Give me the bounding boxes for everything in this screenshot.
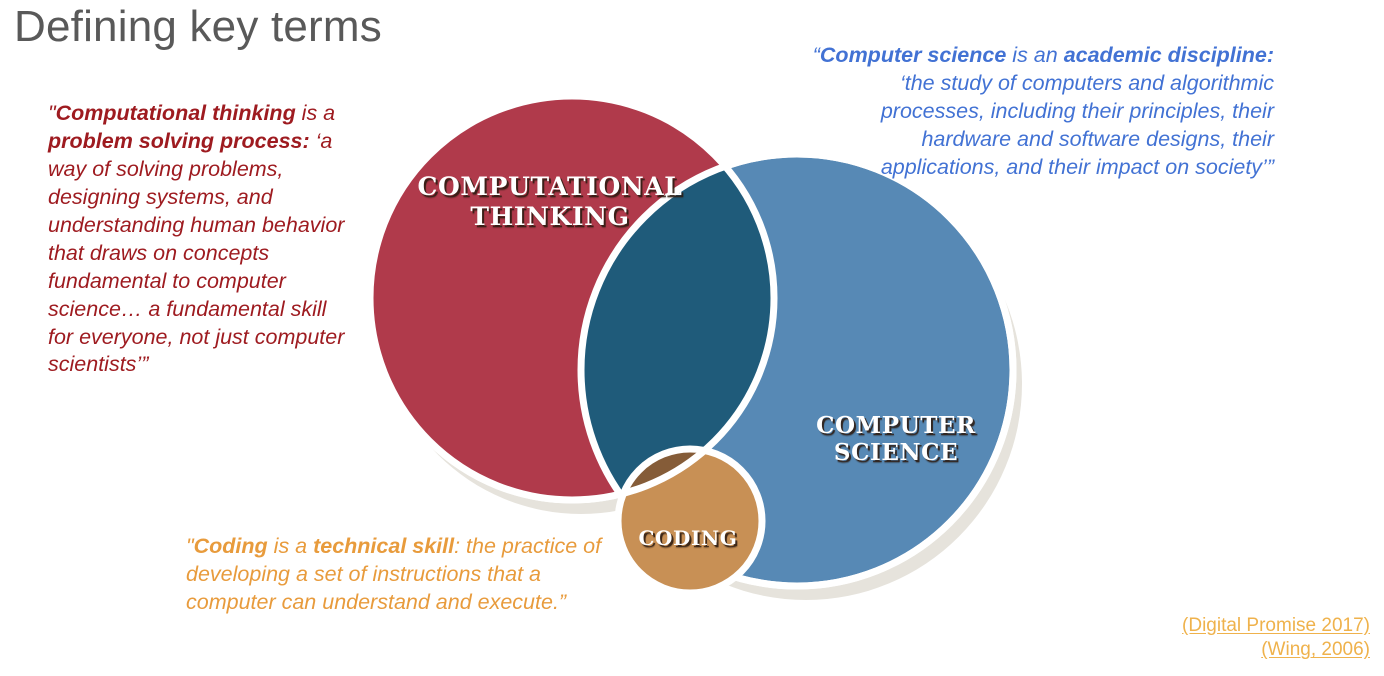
quote-ct-mid: is a — [296, 101, 335, 125]
quote-coding-open: " — [186, 534, 194, 558]
quote-cs-body: ‘the study of computers and algorithmic … — [881, 71, 1274, 179]
citations: (Digital Promise 2017) (Wing, 2006) — [1050, 614, 1370, 663]
citation-link-digital-promise[interactable]: (Digital Promise 2017) — [1050, 614, 1370, 638]
quote-coding-mid: is a — [268, 534, 313, 558]
quote-ct-category: problem solving process: — [48, 129, 310, 153]
quote-computational-thinking: "Computational thinking is a problem sol… — [48, 100, 348, 379]
quote-coding: "Coding is a technical skill: the practi… — [186, 533, 606, 617]
citation-link-wing[interactable]: (Wing, 2006) — [1050, 638, 1370, 662]
quote-cs-category: academic discipline: — [1064, 43, 1274, 67]
quote-coding-category: technical skill — [313, 534, 454, 558]
quote-cs-term: Computer science — [820, 43, 1006, 67]
quote-coding-term: Coding — [194, 534, 268, 558]
quote-ct-open: " — [48, 101, 56, 125]
quote-ct-body: ‘a way of solving problems, designing sy… — [48, 129, 344, 377]
quote-cs-mid: is an — [1006, 43, 1063, 67]
quote-cs-open: “ — [813, 43, 820, 67]
slide: Defining key terms — [0, 0, 1384, 676]
quote-computer-science: “Computer science is an academic discipl… — [812, 42, 1274, 182]
quote-ct-term: Computational thinking — [56, 101, 296, 125]
